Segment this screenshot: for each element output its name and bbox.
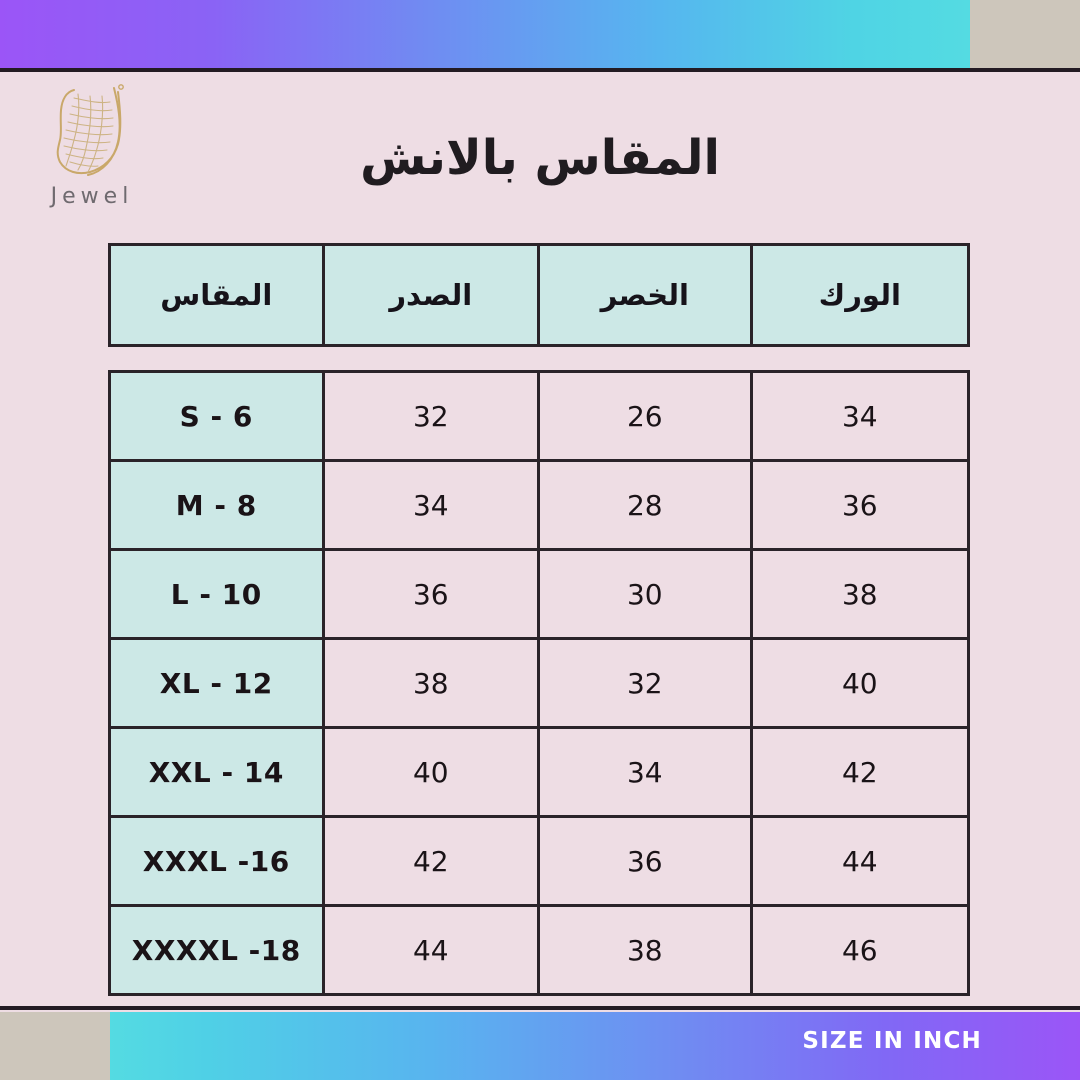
cell-waist: 38 <box>540 907 753 993</box>
table-row: L - 10 36 30 38 <box>111 551 967 640</box>
cell-hip: 36 <box>753 462 967 548</box>
cell-size: XL - 12 <box>111 640 325 726</box>
top-divider-rule <box>0 68 1080 72</box>
size-chart-page: Jewel المقاس بالانش المقاس الصدر الخصر ا… <box>0 0 1080 1080</box>
table-body: S - 6 32 26 34 M - 8 34 28 36 L - 10 36 … <box>108 370 970 996</box>
table-row: XXL - 14 40 34 42 <box>111 729 967 818</box>
cell-chest: 42 <box>325 818 541 904</box>
table-row: XL - 12 38 32 40 <box>111 640 967 729</box>
cell-hip: 46 <box>753 907 967 993</box>
cell-chest: 32 <box>325 373 541 459</box>
column-header-waist: الخصر <box>540 246 753 344</box>
cell-waist: 26 <box>540 373 753 459</box>
cell-waist: 36 <box>540 818 753 904</box>
cell-hip: 44 <box>753 818 967 904</box>
cell-hip: 38 <box>753 551 967 637</box>
cell-waist: 30 <box>540 551 753 637</box>
table-row: XXXL -16 42 36 44 <box>111 818 967 907</box>
cell-size: S - 6 <box>111 373 325 459</box>
cell-chest: 36 <box>325 551 541 637</box>
cell-waist: 34 <box>540 729 753 815</box>
footer-divider-rule <box>0 1006 1080 1010</box>
cell-size: XXXL -16 <box>111 818 325 904</box>
table-header-row: المقاس الصدر الخصر الورك <box>108 243 970 347</box>
size-table: المقاس الصدر الخصر الورك S - 6 32 26 34 … <box>108 243 970 996</box>
cell-chest: 40 <box>325 729 541 815</box>
top-gradient-bar <box>0 0 970 68</box>
cell-hip: 40 <box>753 640 967 726</box>
cell-chest: 34 <box>325 462 541 548</box>
cell-size: M - 8 <box>111 462 325 548</box>
column-header-hip: الورك <box>753 246 967 344</box>
page-title: المقاس بالانش <box>0 130 1080 186</box>
column-header-size: المقاس <box>111 246 325 344</box>
cell-size: L - 10 <box>111 551 325 637</box>
cell-waist: 32 <box>540 640 753 726</box>
cell-size: XXXXL -18 <box>111 907 325 993</box>
cell-waist: 28 <box>540 462 753 548</box>
table-row: M - 8 34 28 36 <box>111 462 967 551</box>
cell-size: XXL - 14 <box>111 729 325 815</box>
cell-hip: 34 <box>753 373 967 459</box>
cell-hip: 42 <box>753 729 967 815</box>
table-row: XXXXL -18 44 38 46 <box>111 907 967 996</box>
table-row: S - 6 32 26 34 <box>111 373 967 462</box>
cell-chest: 44 <box>325 907 541 993</box>
cell-chest: 38 <box>325 640 541 726</box>
brand-name: Jewel <box>32 184 152 209</box>
column-header-chest: الصدر <box>325 246 541 344</box>
footer-note: SIZE IN INCH <box>802 1028 982 1054</box>
